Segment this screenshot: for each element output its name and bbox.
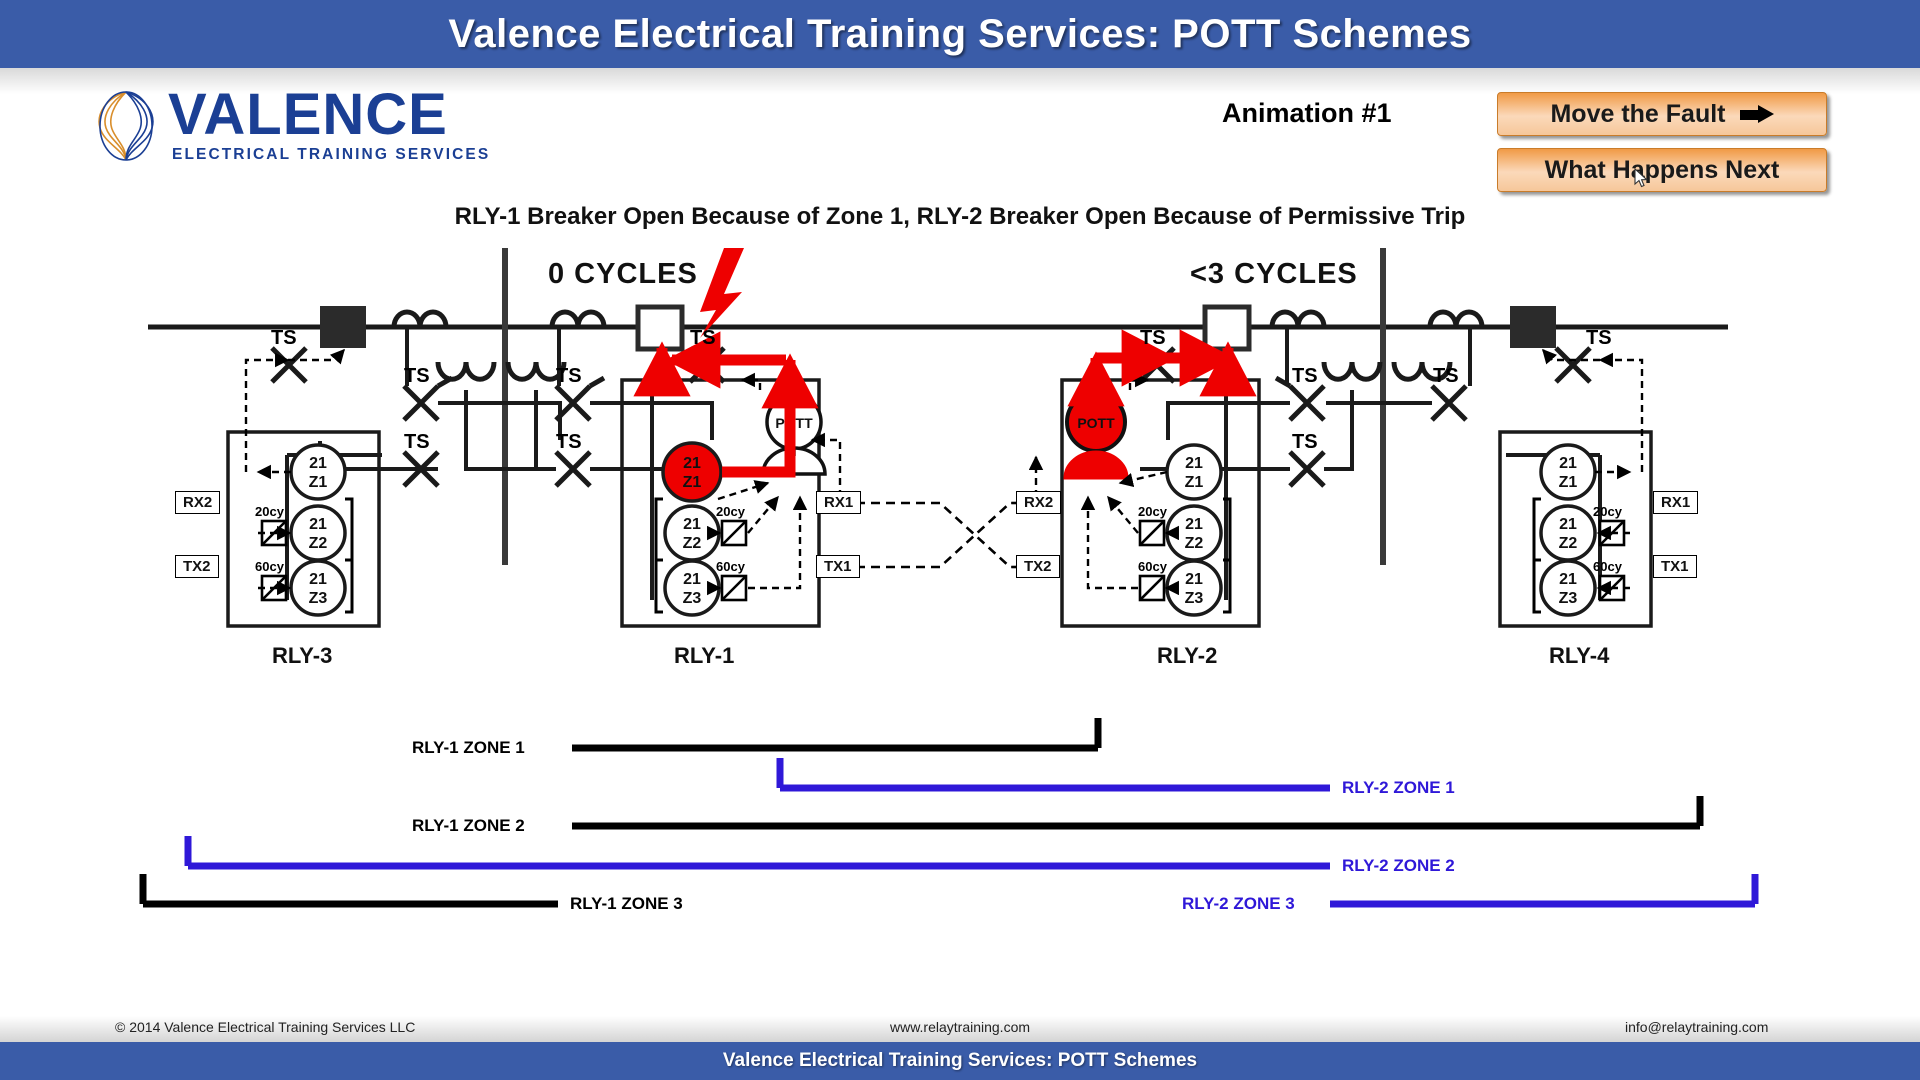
breaker-open-rly1 [638,307,682,349]
svg-text:Z3: Z3 [1185,590,1204,607]
svg-text:POTT: POTT [1077,415,1115,431]
zone-bar-label-rly2-zone3: RLY-2 ZONE 3 [1182,894,1295,914]
svg-text:Z2: Z2 [309,535,328,552]
zone-bar-label-rly2-zone1: RLY-2 ZONE 1 [1342,778,1455,798]
relay-label-rly1: RLY-1 [674,643,734,669]
io-box-tx2-rly2: TX2 [1016,555,1060,578]
ts-label: TS [404,365,430,388]
rly1-internals: 21Z1 21Z2 21Z3 POTT [656,380,840,615]
svg-text:Z3: Z3 [309,590,328,607]
timer-label-60cy: 60cy [1138,559,1167,574]
footer-bar: Valence Electrical Training Services: PO… [0,1042,1920,1080]
svg-text:Z3: Z3 [683,590,702,607]
zone-bar-rly1-zone2 [572,796,1700,826]
svg-text:Z1: Z1 [309,474,328,491]
secondary-wiring [287,327,1600,600]
svg-text:21: 21 [309,571,327,588]
comm-channel [844,503,1022,567]
zone-bar-rly2-zone3 [1330,874,1755,904]
footer-title: Valence Electrical Training Services: PO… [0,1042,1920,1080]
relay-label-rly2: RLY-2 [1157,643,1217,669]
zone-bar-rly1-zone3 [143,874,558,904]
ts-label: TS [1292,431,1318,454]
timer-label-60cy: 60cy [255,559,284,574]
timer-label-20cy: 20cy [1138,504,1167,519]
svg-text:Z1: Z1 [683,474,702,491]
svg-text:Z2: Z2 [1559,535,1578,552]
svg-text:21: 21 [683,571,701,588]
svg-text:Z2: Z2 [683,535,702,552]
svg-text:Z1: Z1 [1185,474,1204,491]
io-box-rx2-rly3: RX2 [175,491,220,514]
io-box-tx1-rly4: TX1 [1653,555,1697,578]
ts-label: TS [556,431,582,454]
relay-label-rly3: RLY-3 [272,643,332,669]
zone-bars [143,718,1755,904]
breaker-closed-far-right [1512,308,1554,346]
ts-label: TS [556,365,582,388]
io-box-rx1-rly1: RX1 [816,491,861,514]
svg-text:Z1: Z1 [1559,474,1578,491]
ts-label: TS [1586,327,1612,350]
or-gate-rly2 [1065,452,1127,478]
rly2-internals: 21Z1 21Z2 21Z3 POTT [1036,380,1230,615]
mouse-cursor-icon [1634,168,1648,188]
io-box-tx2-rly3: TX2 [175,555,219,578]
ts-label: TS [690,327,716,350]
timer-label-20cy: 20cy [716,504,745,519]
ts-label: TS [1433,365,1459,388]
zone-bar-label-rly1-zone2: RLY-1 ZONE 2 [412,816,525,836]
element-21z1-rly1 [663,443,721,501]
svg-text:21: 21 [309,516,327,533]
svg-text:21: 21 [1559,455,1577,472]
ts-label: TS [1140,327,1166,350]
zone-bar-rly2-zone1 [780,758,1330,788]
zone-bar-rly2-zone2 [188,836,1330,866]
svg-text:21: 21 [683,516,701,533]
ts-label: TS [1292,365,1318,388]
io-box-rx2-rly2: RX2 [1016,491,1061,514]
svg-text:21: 21 [309,455,327,472]
zone-bar-label-rly2-zone2: RLY-2 ZONE 2 [1342,856,1455,876]
io-box-tx1-rly1: TX1 [816,555,860,578]
svg-text:Z3: Z3 [1559,590,1578,607]
zone-bar-label-rly1-zone3: RLY-1 ZONE 3 [570,894,683,914]
email-text: info@relaytraining.com [1625,1019,1768,1035]
svg-text:21: 21 [683,455,701,472]
timer-label-60cy: 60cy [716,559,745,574]
ts-label: TS [271,327,297,350]
rly3-internals: 21Z1 21Z2 21Z3 [246,350,352,615]
svg-text:21: 21 [1559,516,1577,533]
timer-label-20cy: 20cy [1593,504,1622,519]
ts-label: TS [404,431,430,454]
svg-text:21: 21 [1185,516,1203,533]
zone-bar-label-rly1-zone1: RLY-1 ZONE 1 [412,738,525,758]
timer-label-60cy: 60cy [1593,559,1622,574]
one-line-diagram: 21Z1 21Z2 21Z3 21Z1 [0,0,1920,1080]
svg-text:21: 21 [1559,571,1577,588]
relay-label-rly4: RLY-4 [1549,643,1609,669]
zone-bar-rly1-zone1 [572,718,1098,748]
svg-text:21: 21 [1185,455,1203,472]
svg-text:Z2: Z2 [1185,535,1204,552]
io-box-rx1-rly4: RX1 [1653,491,1698,514]
timer-label-20cy: 20cy [255,504,284,519]
svg-text:21: 21 [1185,571,1203,588]
breaker-closed-far-left [322,308,364,346]
breaker-open-rly2 [1205,307,1249,349]
rly4-internals: 21Z1 21Z2 21Z3 [1534,350,1642,615]
